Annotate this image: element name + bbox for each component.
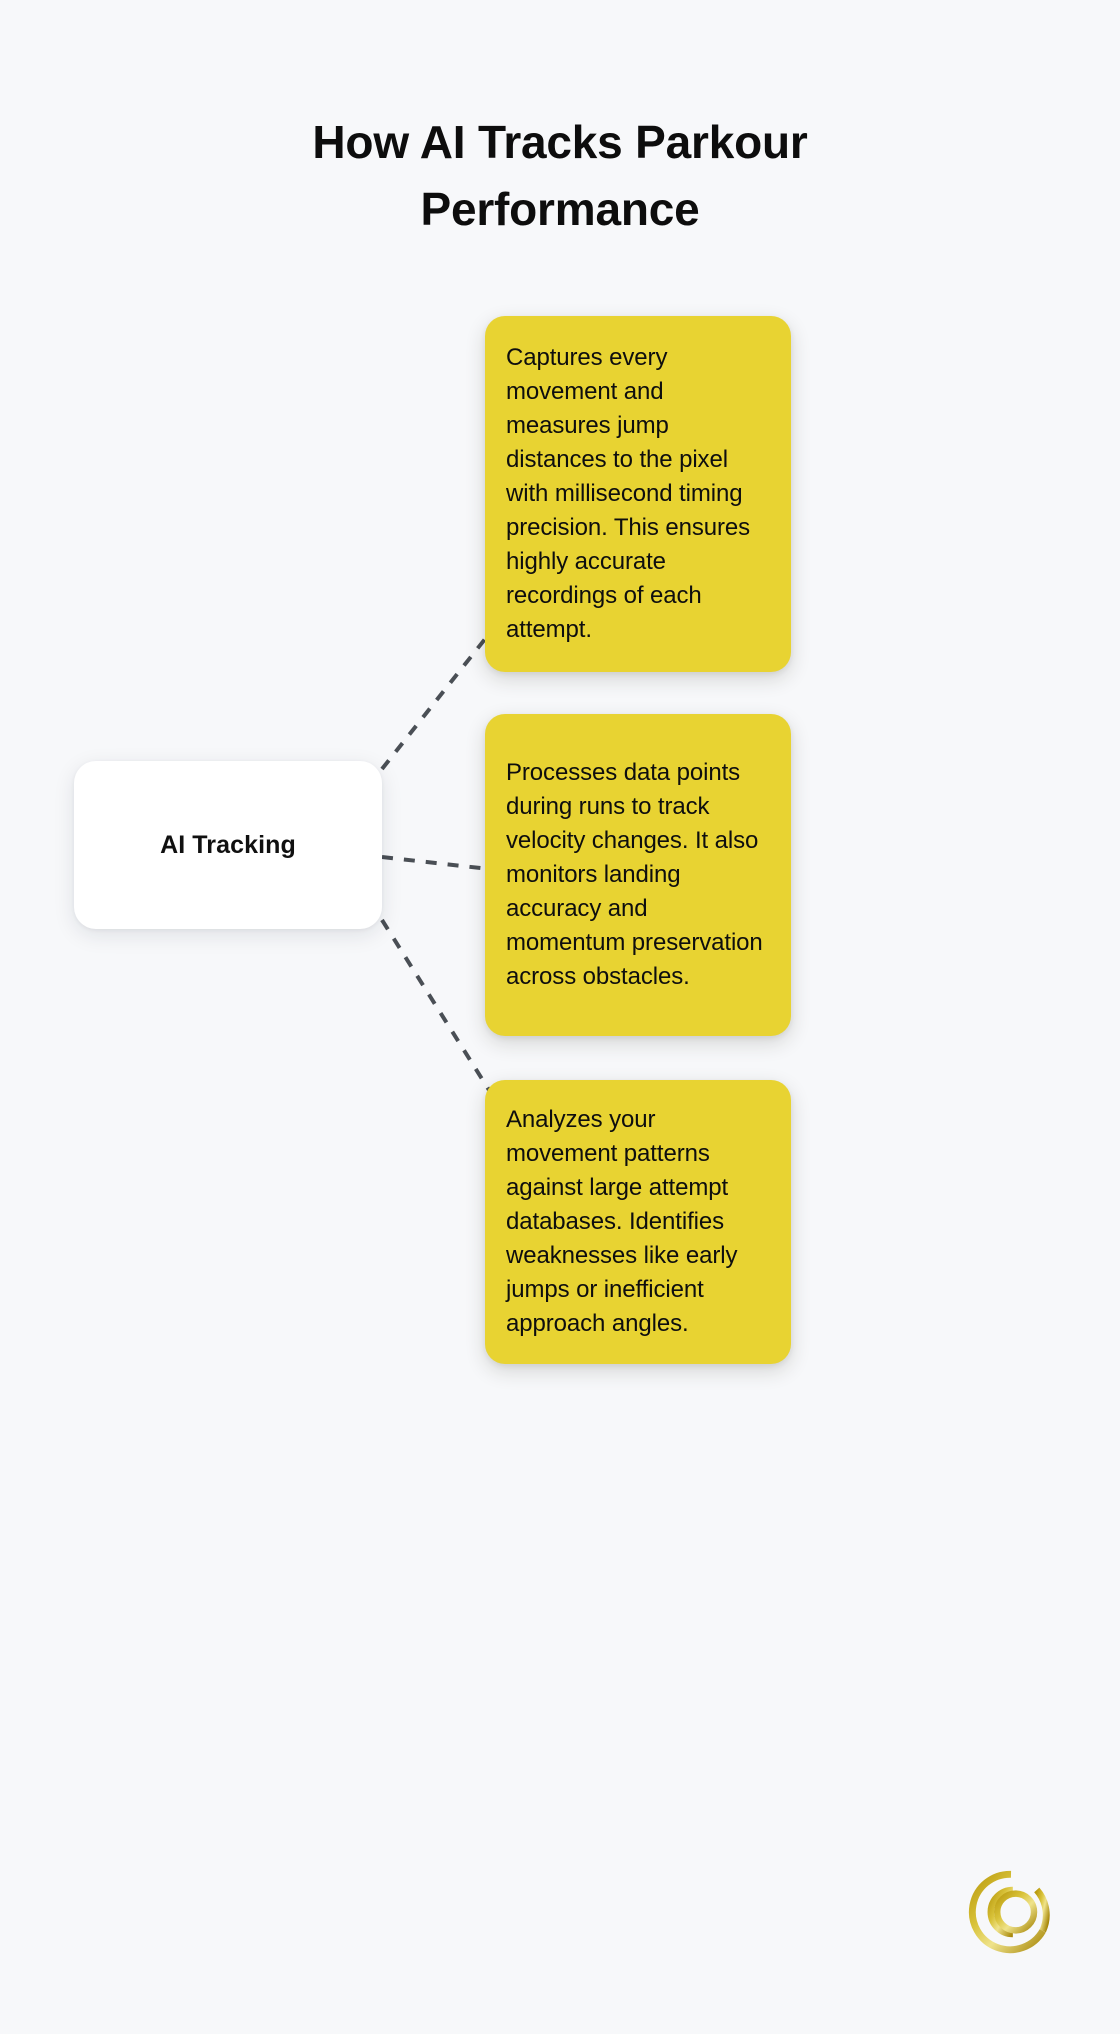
cq-monogram-logo-icon [965, 1866, 1057, 1958]
page-title: How AI Tracks Parkour Performance [0, 109, 1120, 242]
branch-card-1[interactable]: Captures every movement and measures jum… [485, 316, 791, 672]
connector-line-2 [382, 857, 489, 869]
branch-card-1-text: Captures every movement and measures jum… [506, 341, 767, 648]
connector-line-3 [382, 920, 489, 1090]
branch-card-3[interactable]: Analyzes your movement patterns against … [485, 1080, 791, 1364]
branch-card-3-text: Analyzes your movement patterns against … [506, 1103, 767, 1342]
center-node-ai-tracking[interactable]: AI Tracking [74, 761, 382, 929]
branch-card-2-text: Processes data points during runs to tra… [506, 756, 767, 995]
center-node-label: AI Tracking [160, 831, 296, 860]
connector-line-1 [382, 634, 489, 769]
branch-card-2[interactable]: Processes data points during runs to tra… [485, 714, 791, 1036]
